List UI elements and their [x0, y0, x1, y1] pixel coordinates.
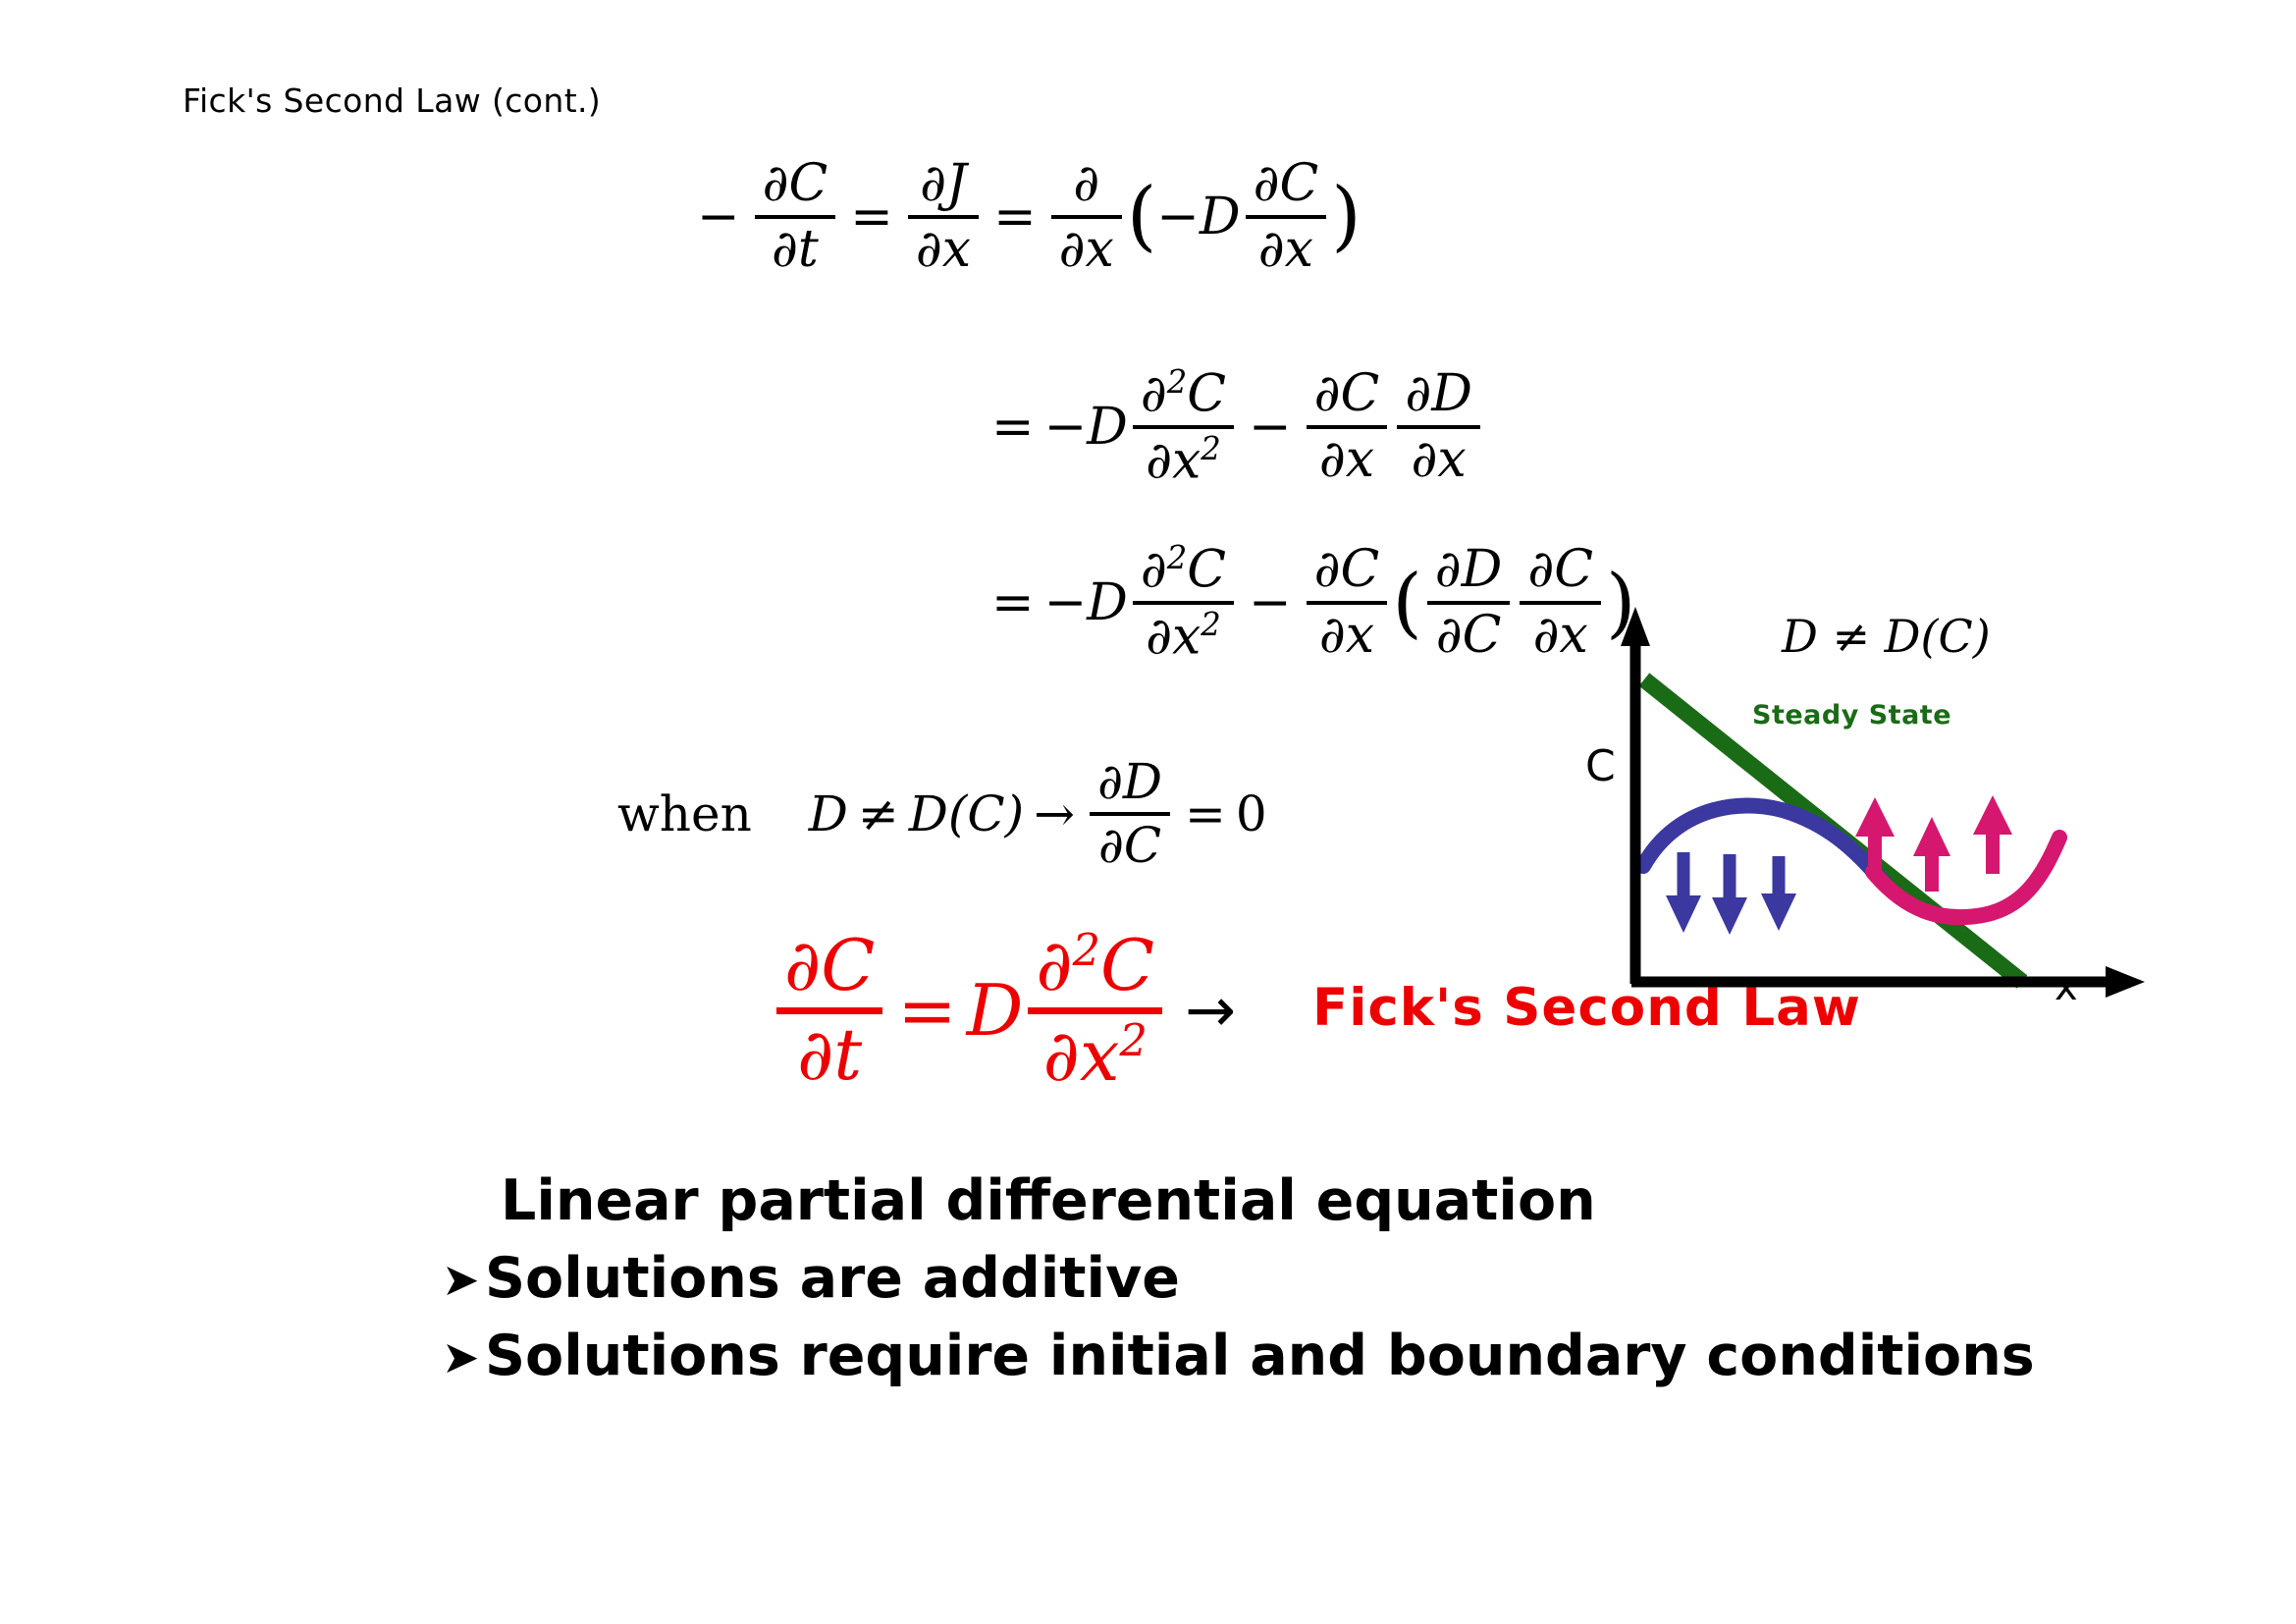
- eq1-numerator-dc-2: ∂C: [1246, 157, 1327, 211]
- fraction-bar: [1307, 601, 1388, 605]
- eq1-dj-dx-fraction: ∂J ∂x: [908, 157, 979, 276]
- eq2-exponent-2: 2: [1167, 363, 1188, 401]
- eq2-equals: =: [991, 398, 1035, 457]
- list-item-label: Solutions require initial and boundary c…: [485, 1328, 2035, 1384]
- y-axis: [1621, 607, 1650, 984]
- right-arrow-icon: →: [1185, 980, 1236, 1041]
- page-title: Fick's Second Law (cont.): [183, 81, 601, 120]
- ficks-second-law-equation: ∂C ∂t = D ∂2C ∂x2 →: [772, 928, 1236, 1093]
- bullet-arrow-icon: ➤: [442, 1257, 485, 1302]
- eq3-equals: =: [991, 573, 1035, 632]
- eq2-minus-d: −D: [1044, 398, 1128, 457]
- blue-down-arrow-group: [1666, 852, 1796, 935]
- not-equal-icon: ≠: [858, 785, 899, 842]
- eq3-exponent-2: 2: [1167, 539, 1188, 576]
- bullet-heading: Linear partial differential equation: [442, 1173, 2035, 1229]
- ficks-denominator-exponent-2: 2: [1119, 1015, 1147, 1066]
- fraction-bar: [1133, 425, 1234, 429]
- flux-divergence-equation: − ∂C ∂t = ∂J ∂x = ∂ ∂x ( −D ∂C ∂x ): [687, 157, 1362, 276]
- list-item: ➤ Solutions are additive: [442, 1251, 2035, 1307]
- fraction-bar: [755, 215, 836, 219]
- when-equals: =: [1185, 785, 1226, 842]
- ficks-exponent-2: 2: [1073, 925, 1100, 976]
- fraction-bar: [1427, 601, 1511, 605]
- constant-diffusivity-condition: when D ≠ D(C) → ∂D ∂C = 0: [617, 756, 1267, 871]
- eq3-denominator-dx-2: ∂x: [1525, 609, 1596, 663]
- implies-arrow-icon: →: [1034, 785, 1075, 842]
- when-denominator-dc: ∂C: [1091, 820, 1169, 872]
- blue-down-arrow-icon: [1666, 852, 1701, 933]
- ficks-c-symbol: C: [1100, 924, 1154, 1006]
- eq2-c-symbol: C: [1187, 364, 1226, 423]
- diagram-title: D ≠ D(C): [1782, 610, 1991, 663]
- eq1-numerator-dc: ∂C: [755, 157, 836, 211]
- eq1-equals-2: =: [993, 188, 1037, 246]
- eq2-dd-dx-fraction: ∂D ∂x: [1397, 367, 1480, 486]
- eq3-numerator-dc: ∂C: [1307, 543, 1388, 597]
- fraction-bar: [1246, 215, 1327, 219]
- eq2-numerator-dc: ∂C: [1307, 367, 1388, 421]
- blue-down-arrow-icon: [1761, 856, 1796, 931]
- fraction-bar: [1307, 425, 1388, 429]
- eq2-dx-symbol: ∂x: [1146, 431, 1201, 490]
- eq1-close-paren: ): [1331, 186, 1361, 246]
- eq2-dc-dx-fraction: ∂C ∂x: [1307, 367, 1388, 486]
- ficks-dx-symbol: ∂x: [1043, 1014, 1120, 1097]
- when-dd-dc-fraction: ∂D ∂C: [1090, 756, 1170, 871]
- eq3-denominator-dx2: ∂x2: [1138, 609, 1229, 664]
- blue-down-arrow-icon: [1712, 854, 1747, 935]
- eq3-c-symbol: C: [1187, 540, 1226, 599]
- eq1-denominator-dx: ∂x: [908, 223, 979, 277]
- eq3-denominator-dc: ∂C: [1428, 609, 1510, 663]
- eq2-second-derivative-fraction: ∂2C ∂x2: [1133, 366, 1234, 488]
- eq3-minus-d: −D: [1044, 573, 1128, 632]
- eq3-dx-symbol: ∂x: [1146, 607, 1201, 666]
- fraction-bar: [1520, 601, 1601, 605]
- eq1-denominator-dx-2: ∂x: [1251, 223, 1321, 277]
- eq1-numerator-dj: ∂J: [912, 157, 975, 211]
- ficks-partial-symbol: ∂: [1036, 924, 1072, 1006]
- y-axis-label: C: [1585, 741, 1616, 791]
- steady-state-label: Steady State: [1752, 700, 1951, 731]
- eq2-numerator-dd: ∂D: [1397, 367, 1480, 421]
- pink-up-arrow-icon: [1973, 795, 2012, 874]
- eq3-numerator-dc-2: ∂C: [1520, 543, 1601, 597]
- when-d-of-c: D(C): [909, 785, 1024, 842]
- ficks-diffusivity-d: D: [967, 969, 1024, 1052]
- fraction-bar: [1133, 601, 1234, 605]
- ficks-denominator-dt: ∂t: [789, 1018, 870, 1093]
- eq2-minus-operator: −: [1249, 398, 1292, 457]
- eq2-denominator-dx-2: ∂x: [1404, 433, 1474, 487]
- bullet-arrow-icon: ➤: [442, 1334, 485, 1380]
- eq1-dc-dx-fraction: ∂C ∂x: [1246, 157, 1327, 276]
- ficks-denominator-dx2: ∂x2: [1036, 1018, 1155, 1094]
- when-numerator-dd: ∂D: [1090, 756, 1170, 808]
- eq3-open-paren: (: [1392, 572, 1421, 633]
- eq1-numerator-partial: ∂: [1065, 157, 1107, 211]
- when-label: when: [617, 785, 752, 842]
- eq2-partial-symbol: ∂: [1141, 364, 1167, 423]
- eq1-dc-dt-fraction: ∂C ∂t: [755, 157, 836, 276]
- ficks-numerator-d2c: ∂2C: [1028, 928, 1162, 1003]
- x-axis-label: x: [2055, 964, 2078, 1009]
- eq1-denominator-dt: ∂t: [764, 223, 827, 277]
- fraction-bar: [1397, 425, 1480, 429]
- when-zero: 0: [1236, 785, 1267, 842]
- ficks-dc-dt-fraction: ∂C ∂t: [776, 929, 882, 1092]
- fraction-bar: [1090, 812, 1170, 816]
- eq2-denominator-exponent-2: 2: [1201, 430, 1221, 467]
- eq2-denominator-dx2: ∂x2: [1138, 433, 1229, 488]
- expanded-derivative-equation: = −D ∂2C ∂x2 − ∂C ∂x ∂D ∂x: [982, 366, 1485, 488]
- eq1-denominator-dx-operator: ∂x: [1051, 223, 1122, 277]
- pink-up-arrow-icon: [1913, 817, 1950, 892]
- eq3-second-derivative-fraction: ∂2C ∂x2: [1133, 542, 1234, 664]
- eq3-minus-operator: −: [1249, 573, 1292, 632]
- ficks-equals: =: [897, 969, 956, 1052]
- summary-bullet-list: Linear partial differential equation ➤ S…: [442, 1173, 2035, 1406]
- eq1-open-paren: (: [1127, 186, 1156, 246]
- eq3-dd-dc-fraction: ∂D ∂C: [1427, 543, 1511, 662]
- eq3-denominator-exponent-2: 2: [1201, 606, 1221, 643]
- chain-rule-equation: = −D ∂2C ∂x2 − ∂C ∂x ( ∂D ∂C ∂C ∂x ): [982, 542, 1635, 664]
- eq1-negative-d: −D: [1156, 188, 1240, 246]
- when-expression: D ≠ D(C) → ∂D ∂C = 0: [809, 756, 1267, 871]
- eq3-dc-dx-fraction: ∂C ∂x: [1307, 543, 1388, 662]
- list-item: ➤ Solutions require initial and boundary…: [442, 1328, 2035, 1384]
- ficks-numerator-dc: ∂C: [776, 929, 882, 1003]
- eq3-partial-symbol: ∂: [1141, 540, 1167, 599]
- fraction-bar: [1051, 215, 1122, 219]
- fraction-bar: [1028, 1007, 1162, 1014]
- list-item-label: Solutions are additive: [485, 1251, 1180, 1307]
- when-d: D: [809, 785, 848, 842]
- eq1-equals-1: =: [850, 188, 893, 246]
- eq3-numerator-d2c: ∂2C: [1133, 542, 1234, 597]
- eq1-leading-minus: −: [697, 188, 740, 246]
- eq3-denominator-dx: ∂x: [1311, 609, 1382, 663]
- eq1-d-dx-operator-fraction: ∂ ∂x: [1051, 157, 1122, 276]
- eq3-dc-dx-fraction-2: ∂C ∂x: [1520, 543, 1601, 662]
- eq2-numerator-d2c: ∂2C: [1133, 366, 1234, 421]
- ficks-second-derivative-fraction: ∂2C ∂x2: [1028, 928, 1162, 1093]
- eq3-numerator-dd: ∂D: [1427, 543, 1511, 597]
- fraction-bar: [908, 215, 979, 219]
- eq2-denominator-dx: ∂x: [1311, 433, 1382, 487]
